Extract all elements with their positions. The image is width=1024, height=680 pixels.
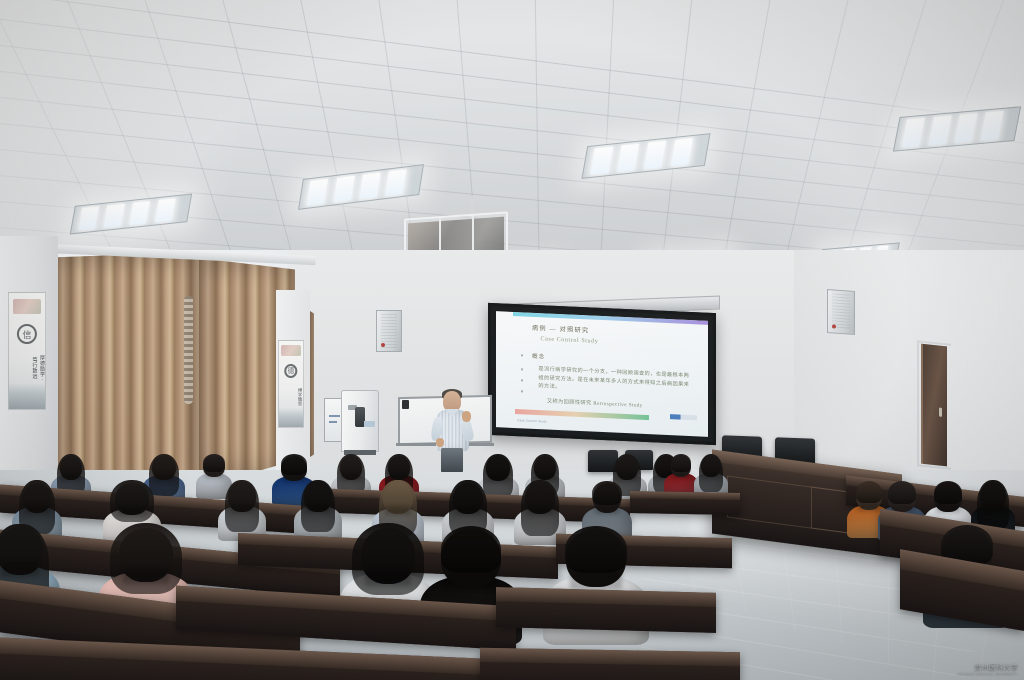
audience-shoulder-shadow [527, 506, 553, 516]
audience-member [698, 452, 724, 494]
whiteboard-sensor-icon [402, 400, 409, 409]
audience-shoulder-shadow [123, 568, 169, 585]
audience-shoulder-shadow [306, 504, 329, 513]
audience-shoulder-shadow [455, 506, 481, 516]
audience-hair [856, 481, 883, 504]
audience-member [300, 478, 336, 534]
board-marking [329, 421, 337, 423]
audience-hair [671, 454, 691, 472]
audience-shoulder-shadow [936, 504, 959, 513]
poster-caption: 厚德励学 · 笃行致远 [9, 353, 45, 383]
audience-member [668, 452, 694, 494]
poster-seal-icon: 德 [284, 364, 297, 378]
audience-member [224, 478, 260, 534]
audience-hair [281, 454, 308, 474]
fluorescent-tube [644, 141, 667, 170]
poster-ink-wash [9, 383, 45, 409]
slide-title: 病例 — 对照研究 [532, 323, 589, 335]
fluorescent-tube [104, 203, 125, 228]
lecturer-left-hand [436, 438, 444, 447]
fluorescent-tube [359, 172, 381, 199]
slide-footer-text: Case Control Study [517, 418, 547, 423]
audience-shoulder-shadow [858, 503, 880, 512]
poster-ornament [13, 299, 42, 314]
audience-shoulder-shadow [385, 506, 411, 516]
fluorescent-tube [928, 115, 952, 145]
fluorescent-tube [980, 111, 1004, 141]
classroom-door[interactable] [921, 344, 947, 467]
fluorescent-tube [617, 143, 640, 172]
audience-shoulder-shadow [673, 471, 690, 478]
aircon-label [364, 421, 375, 427]
fluorescent-tube [129, 200, 150, 225]
audience-shoulder-shadow [61, 473, 80, 480]
poster-ink-wash [279, 408, 303, 427]
fluorescent-tube [307, 179, 329, 206]
speaker-indicator-icon [832, 324, 836, 328]
lecturer [432, 391, 474, 471]
fluorescent-tube [385, 169, 407, 196]
fluorescent-tube [670, 138, 693, 167]
desk-front-panel [630, 499, 740, 515]
slide-subtitle: Case Control Study [541, 336, 599, 345]
fluorescent-tube [78, 206, 99, 231]
lecturer-trousers [441, 448, 463, 472]
audience-shoulder-shadow [230, 504, 253, 513]
air-conditioner[interactable] [341, 390, 379, 452]
slide-body-text: 是流行病学研究的一个分支，一种回顾调查的，也是最根本两组的研究方法。是在未来某年… [538, 365, 693, 398]
wall-speaker-right [827, 289, 855, 335]
fluorescent-tube [333, 175, 355, 202]
audience-shoulder-shadow [1, 562, 39, 577]
audience-shoulder-shadow [154, 473, 174, 480]
audience-hair [934, 481, 962, 505]
audience-shoulder-shadow [488, 474, 508, 482]
audience-shoulder-shadow [570, 572, 621, 590]
audience-shoulder-shadow [25, 505, 49, 514]
presentation-slide: 病例 — 对照研究 Case Control Study 概念 是流行病学研究的… [496, 311, 708, 437]
desk [630, 491, 740, 515]
audience-hair [565, 526, 627, 573]
wall-speaker-left [376, 310, 402, 352]
fluorescent-tube [954, 113, 978, 143]
poster-ornament [281, 345, 300, 356]
lecturer-right-hand [462, 411, 471, 422]
poster-caption: 博学慎思 [279, 386, 303, 408]
poster-seal-icon: 信 [17, 324, 37, 344]
desk [480, 648, 740, 680]
audience-shoulder-shadow [446, 572, 496, 590]
fluorescent-tube [154, 198, 175, 223]
watermark: 贵州医科大学 GUIZHOU MEDICAL UNIVERSITY [957, 664, 1018, 676]
audience-shoulder-shadow [365, 569, 411, 586]
board-marking [329, 415, 340, 417]
wall-scroll-poster-left: 信 厚德励学 · 笃行致远 [8, 292, 46, 410]
watermark-subtitle: GUIZHOU MEDICAL UNIVERSITY [957, 672, 1018, 676]
audience-shoulder-shadow [703, 471, 720, 478]
curtain-tieback [184, 296, 193, 404]
slide-closing-line: 又称为回顾性研究 Retrospective Study [547, 397, 643, 408]
audience-hair [888, 481, 916, 505]
audience-shoulder-shadow [205, 471, 223, 478]
lecture-hall-photo: 信 厚德励学 · 笃行致远 德 博学慎思 病例 — 对照研究 Case Cont… [0, 0, 1024, 680]
audience-hair [203, 454, 225, 472]
audience-shoulder-shadow [118, 507, 146, 517]
desk [496, 587, 716, 633]
audience-hair [441, 526, 502, 573]
audience-hair [592, 481, 622, 505]
fluorescent-tube [590, 146, 613, 175]
audience-shoulder-shadow [595, 505, 619, 514]
speaker-indicator-icon [381, 343, 385, 347]
slide-logo-icon [670, 414, 698, 420]
audience-shoulder-shadow [982, 503, 1004, 512]
fluorescent-tube [902, 118, 926, 148]
door-handle-icon[interactable] [939, 408, 942, 417]
lecturer-head [443, 391, 461, 412]
wall-scroll-poster-right: 德 博学慎思 [278, 340, 304, 428]
audience-member [520, 478, 560, 538]
slide-section-heading: 概念 [532, 352, 545, 361]
audience-shoulder-shadow [341, 473, 360, 480]
projection-screen: 病例 — 对照研究 Case Control Study 概念 是流行病学研究的… [488, 303, 716, 445]
